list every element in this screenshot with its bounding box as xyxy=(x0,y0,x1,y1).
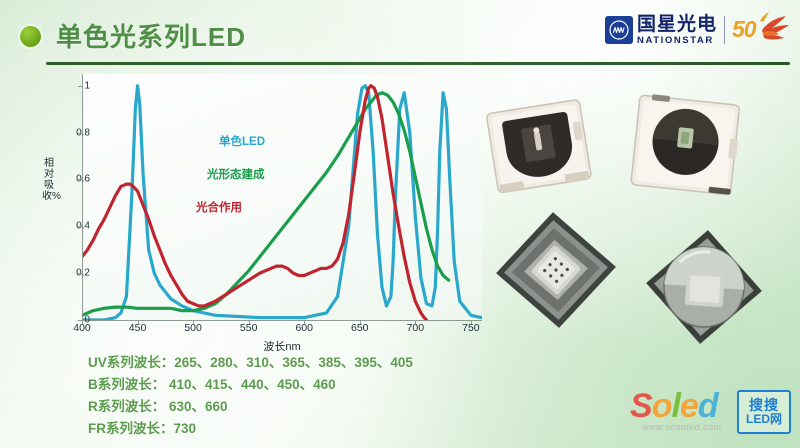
led-package-white-top-left xyxy=(480,92,600,202)
slide-root: 单色光系列LED 国星光电 NATIONSTAR 50 00.20 xyxy=(0,0,800,448)
header-divider xyxy=(46,62,790,65)
sosoled-watermark: Soled www.sosoled.com 搜搜 LED网 xyxy=(630,388,790,440)
x-tick-mark-450 xyxy=(138,320,139,324)
y-tick-mark-0.4 xyxy=(78,226,82,227)
watermark-brand: Soled xyxy=(630,388,718,424)
logo-separator xyxy=(724,16,725,44)
spec-line-fr: FR系列波长：730 xyxy=(88,418,608,440)
logo-english-name: NATIONSTAR xyxy=(637,36,717,46)
phoenix-icon xyxy=(732,12,790,48)
company-logo: 国星光电 NATIONSTAR 50 xyxy=(605,8,790,52)
spectrum-curves xyxy=(82,74,482,320)
watermark-badge: 搜搜 LED网 xyxy=(737,390,791,434)
y-tick-mark-0.6 xyxy=(78,179,82,180)
y-tick-mark-0.2 xyxy=(78,273,82,274)
y-axis-line xyxy=(82,74,83,320)
y-tick-1: 1 xyxy=(84,80,90,91)
nationstar-wave-icon xyxy=(605,16,633,44)
led-package-white-top-right xyxy=(621,88,751,206)
legend-label-monochrome-led: 单色LED xyxy=(219,133,265,149)
y-tick-mark-1 xyxy=(78,86,82,87)
y-tick-mark-0.8 xyxy=(78,133,82,134)
x-tick-mark-500 xyxy=(193,320,194,324)
x-tick-mark-550 xyxy=(249,320,250,324)
spec-line-b: B系列波长： 410、415、440、450、460 xyxy=(88,374,608,396)
page-title: 单色光系列LED xyxy=(56,17,246,54)
x-tick-mark-600 xyxy=(304,320,305,324)
spec-line-uv: UV系列波长：265、280、310、365、385、395、405 xyxy=(88,352,608,374)
logo-chinese-name: 国星光电 xyxy=(637,15,717,34)
x-tick-mark-750 xyxy=(471,320,472,324)
y-axis-label: 相对吸收% xyxy=(42,158,56,202)
led-product-photos xyxy=(478,88,800,350)
chart-plot-area xyxy=(82,74,482,320)
wavelength-spec-list: UV系列波长：265、280、310、365、385、395、405 B系列波长… xyxy=(88,352,608,440)
x-tick-mark-650 xyxy=(360,320,361,324)
legend-label-photosynthesis: 光合作用 xyxy=(196,199,242,215)
led-package-ceramic-bottom-left xyxy=(490,206,622,334)
logo-wordmark: 国星光电 NATIONSTAR xyxy=(637,15,717,46)
title-bullet-icon xyxy=(20,26,41,47)
led-package-lens-bottom-right xyxy=(638,224,770,350)
legend-label-photomorphogenesis: 光形态建成 xyxy=(207,166,265,182)
watermark-badge-line1: 搜搜 xyxy=(749,398,779,413)
anniversary-mark: 50 xyxy=(732,12,790,48)
absorption-spectrum-chart: 00.20.40.60.81400450500550600650700750 相… xyxy=(44,70,494,340)
x-tick-mark-700 xyxy=(415,320,416,324)
watermark-badge-line2: LED网 xyxy=(746,413,782,426)
x-tick-mark-400 xyxy=(82,320,83,324)
x-axis-line xyxy=(82,320,482,321)
spec-line-r: R系列波长： 630、660 xyxy=(88,396,608,418)
watermark-url: www.sosoled.com xyxy=(642,422,722,432)
